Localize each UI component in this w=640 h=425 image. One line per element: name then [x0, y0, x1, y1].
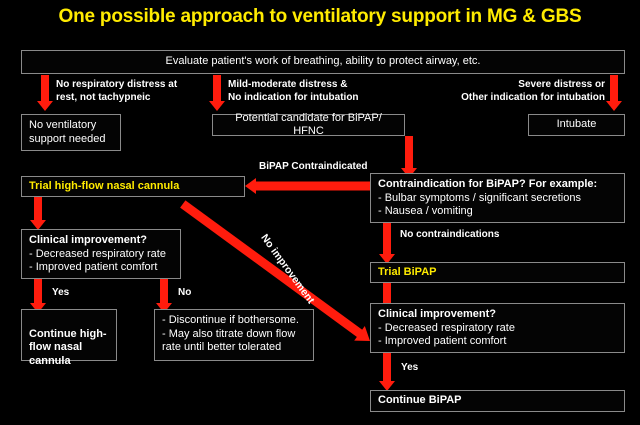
node-contraindication-header: Contraindication for BiPAP? For example:	[378, 178, 617, 192]
node-contraindication-item-1: - Nausea / vomiting	[378, 205, 617, 219]
node-contraindication-item-0: - Bulbar symptoms / significant secretio…	[378, 192, 617, 206]
arrow-left-yes	[29, 279, 47, 313]
node-discontinue-options: - Discontinue if bothersome. - May also …	[154, 309, 314, 361]
node-evaluate-label: Evaluate patient's work of breathing, ab…	[29, 55, 617, 69]
edge-label-severe: Severe distress or Other indication for …	[405, 79, 605, 104]
node-clinical-improvement-left: Clinical improvement? - Decreased respir…	[21, 229, 181, 279]
node-discontinue-item-2: rate until better tolerated	[162, 341, 306, 355]
node-potential-candidate-label: Potential candidate for BiPAP/ HFNC	[220, 112, 397, 139]
node-clinical-improvement-right-header: Clinical improvement?	[378, 308, 617, 322]
flowchart-canvas: One possible approach to ventilatory sup…	[0, 0, 640, 425]
node-trial-bipap-label: Trial BiPAP	[378, 266, 617, 280]
node-clinical-improvement-left-item-1: - Improved patient comfort	[29, 261, 173, 275]
node-discontinue-item-0: - Discontinue if bothersome.	[162, 314, 306, 328]
edge-label-no-left: No	[178, 287, 218, 300]
edge-label-no-contraindications: No contraindications	[400, 229, 590, 242]
node-clinical-improvement-right: Clinical improvement? - Decreased respir…	[370, 303, 625, 353]
edge-label-yes-left: Yes	[52, 287, 92, 300]
node-continue-bipap-label: Continue BiPAP	[378, 394, 617, 408]
arrow-contraindication-to-trial-bipap	[378, 223, 396, 264]
node-clinical-improvement-left-header: Clinical improvement?	[29, 234, 173, 248]
node-no-ventilatory-support-label: No ventilatory support needed	[29, 119, 113, 146]
node-continue-hfnc: Continue high- flow nasal cannula	[21, 309, 117, 361]
node-clinical-improvement-left-item-0: - Decreased respiratory rate	[29, 248, 173, 262]
arrow-evaluate-to-potential-candidate	[208, 75, 226, 111]
node-intubate: Intubate	[528, 114, 625, 136]
node-trial-hfnc-label: Trial high-flow nasal cannula	[29, 180, 237, 194]
arrow-left-no	[155, 279, 173, 313]
node-continue-hfnc-label: Continue high- flow nasal cannula	[29, 328, 107, 367]
node-clinical-improvement-right-item-1: - Improved patient comfort	[378, 335, 617, 349]
node-discontinue-item-1: - May also titrate down flow	[162, 328, 306, 342]
node-no-ventilatory-support: No ventilatory support needed	[21, 114, 121, 151]
arrow-right-yes	[378, 353, 396, 391]
node-potential-candidate: Potential candidate for BiPAP/ HFNC	[212, 114, 405, 136]
arrow-contraindication-to-hfnc	[245, 177, 370, 195]
node-continue-bipap: Continue BiPAP	[370, 390, 625, 412]
arrow-hfnc-to-clinical-improvement	[29, 197, 47, 230]
edge-label-bipap-contraindicated: BiPAP Contraindicated	[259, 161, 459, 174]
node-intubate-label: Intubate	[536, 118, 617, 132]
node-trial-hfnc: Trial high-flow nasal cannula	[21, 176, 245, 197]
node-clinical-improvement-right-item-0: - Decreased respiratory rate	[378, 322, 617, 336]
edge-label-yes-right: Yes	[401, 362, 441, 375]
node-contraindication-bipap: Contraindication for BiPAP? For example:…	[370, 173, 625, 223]
node-trial-bipap: Trial BiPAP	[370, 262, 625, 283]
arrow-evaluate-to-no-support	[36, 75, 54, 111]
arrow-evaluate-to-intubate	[605, 75, 623, 111]
page-title: One possible approach to ventilatory sup…	[0, 6, 640, 28]
node-evaluate: Evaluate patient's work of breathing, ab…	[21, 50, 625, 74]
